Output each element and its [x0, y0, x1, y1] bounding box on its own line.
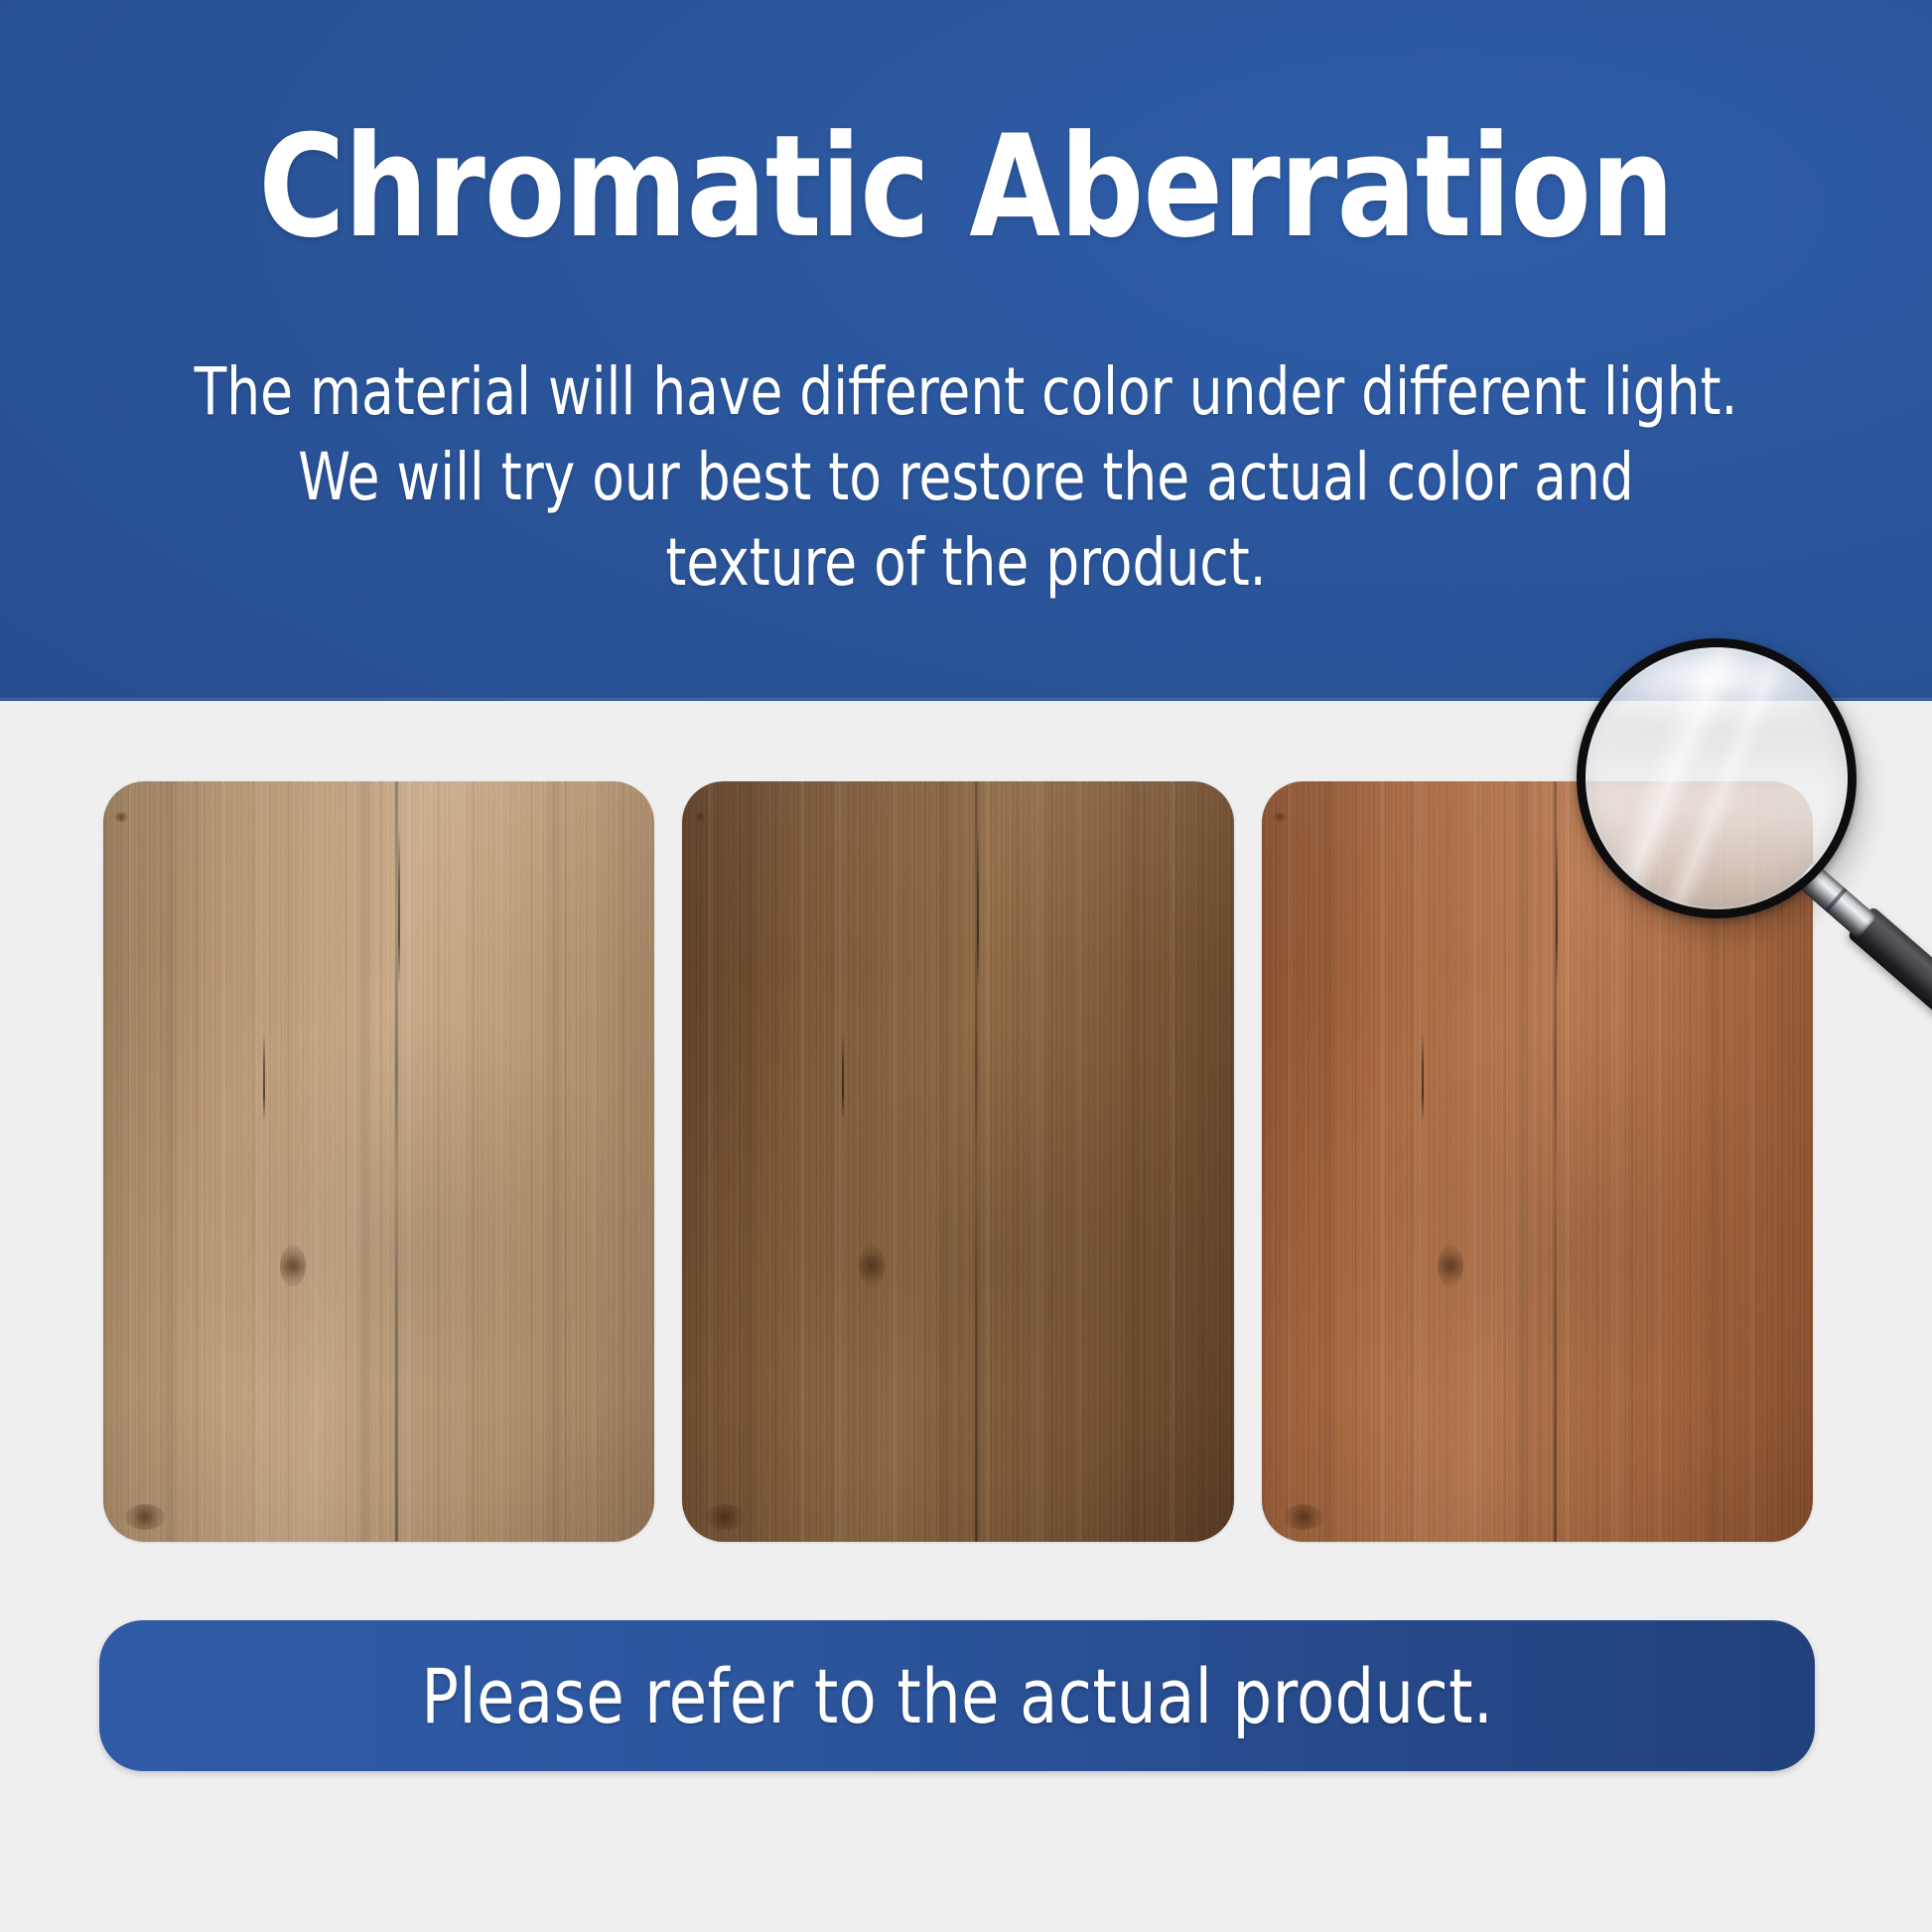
header-banner: Chromatic Aberration The material will h…	[0, 0, 1932, 701]
header-subtitle: The material will have different color u…	[117, 349, 1815, 605]
refer-to-actual-product-button[interactable]: Please refer to the actual product.	[99, 1620, 1815, 1771]
page-title: Chromatic Aberration	[68, 117, 1864, 258]
magnifier-grip	[1847, 906, 1932, 1039]
subtitle-line-1: The material will have different color u…	[117, 349, 1815, 435]
walnut-brown-swatch	[682, 781, 1233, 1542]
footer-button-label: Please refer to the actual product.	[421, 1652, 1493, 1740]
cherry-red-swatch	[1262, 781, 1813, 1542]
subtitle-line-3: texture of the product.	[117, 520, 1815, 606]
subtitle-line-2: We will try our best to restore the actu…	[117, 435, 1815, 520]
light-oak-swatch	[103, 781, 654, 1542]
swatch-shading	[682, 781, 1233, 1542]
swatch-shading	[103, 781, 654, 1542]
swatch-shading	[1262, 781, 1813, 1542]
chromatic-aberration-infographic: Chromatic Aberration The material will h…	[0, 0, 1932, 1932]
wood-swatch-row	[103, 781, 1813, 1542]
